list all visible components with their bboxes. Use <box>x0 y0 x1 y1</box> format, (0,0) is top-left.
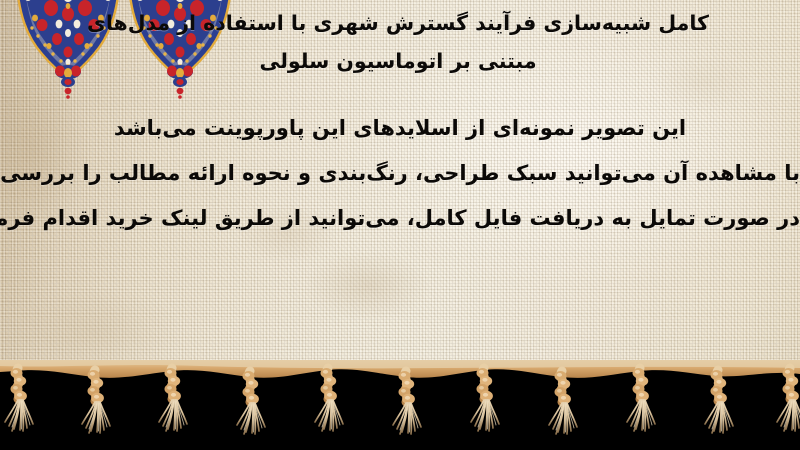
title-line-2: مبتنی بر اتوماسیون سلولی <box>0 42 796 80</box>
title-line-1: کامل شبیه‌سازی فرآیند گسترش شهری با استف… <box>0 4 796 42</box>
carpet-tassel-fringe <box>0 360 800 450</box>
body-line-2: با مشاهده آن می‌توانید سبک طراحی، رنگ‌بن… <box>0 151 800 196</box>
slide-title: کامل شبیه‌سازی فرآیند گسترش شهری با استف… <box>0 4 800 80</box>
tassel-fringe-svg <box>0 360 800 450</box>
slide-body: این تصویر نمونه‌ای از اسلایدهای این پاور… <box>0 106 800 241</box>
body-line-1: این تصویر نمونه‌ای از اسلایدهای این پاور… <box>0 106 800 151</box>
body-line-3: در صورت تمایل به دریافت فایل کامل، می‌تو… <box>0 196 800 241</box>
presentation-slide: کامل شبیه‌سازی فرآیند گسترش شهری با استف… <box>0 0 800 450</box>
